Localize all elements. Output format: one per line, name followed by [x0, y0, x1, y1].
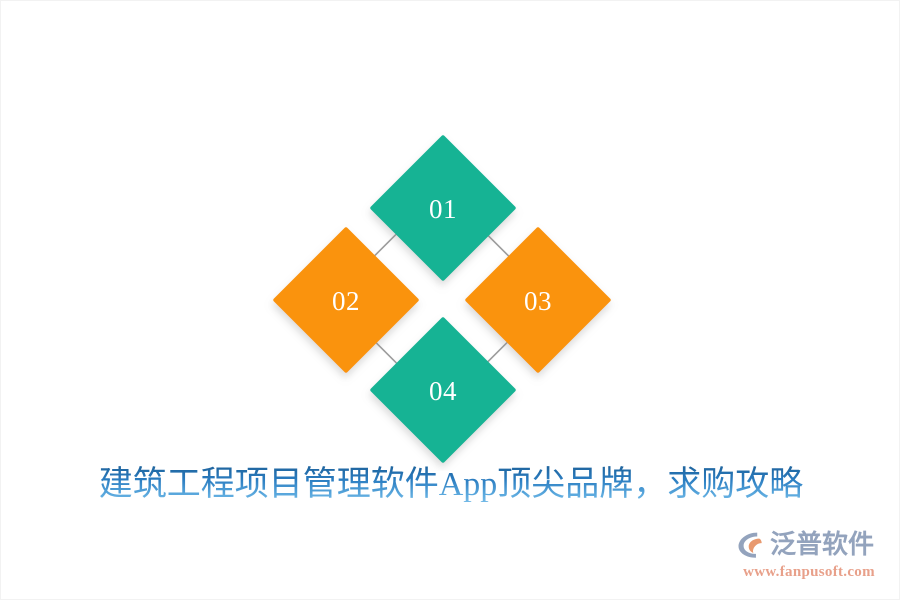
node-03-label: 03: [524, 286, 552, 316]
brand-watermark: 泛普软件 www.fanpusoft.com: [733, 527, 885, 587]
node-04-label: 04: [429, 376, 457, 406]
page-title-container: 建筑工程项目管理软件App顶尖品牌，求购攻略: [1, 453, 900, 517]
page-root: 01 02 03 04 建筑工程项目管理软件App顶尖品牌，求购攻略: [0, 0, 900, 600]
node-01-label: 01: [429, 194, 457, 224]
node-02-label: 02: [332, 286, 360, 316]
brand-name: 泛普软件: [770, 530, 874, 560]
diagram-node-04[interactable]: 04: [369, 316, 516, 463]
diagram-node-02[interactable]: 02: [272, 226, 419, 373]
diagram-container: 01 02 03 04: [1, 1, 900, 471]
brand-url: www.fanpusoft.com: [733, 564, 885, 581]
diagram-node-01[interactable]: 01: [369, 134, 516, 281]
fanpu-logo-icon: [733, 528, 767, 562]
brand-logo-row: 泛普软件: [733, 527, 885, 563]
page-title: 建筑工程项目管理软件App顶尖品牌，求购攻略: [99, 462, 804, 508]
diagram-node-03[interactable]: 03: [464, 226, 611, 373]
four-step-diamond-diagram: 01 02 03 04: [1, 1, 900, 471]
